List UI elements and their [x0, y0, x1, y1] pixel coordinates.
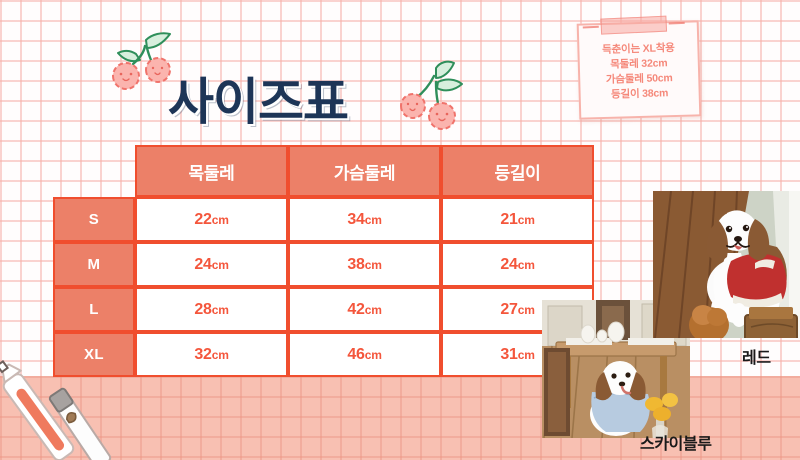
cell-value: 38: [347, 256, 364, 273]
photo-caption-skyblue: 스카이블루: [640, 430, 712, 454]
size-table: 목둘레 가슴둘레 등길이 S 22cm 34cm 21cm M 24cm 38c…: [53, 145, 594, 377]
memo-line: 등길이 38cm: [580, 85, 698, 103]
memo-note-text: 득춘이는 XL착용 목둘레 32cm 가슴둘레 50cm 등길이 38cm: [579, 40, 699, 103]
table-row: M 24cm 38cm 24cm: [53, 242, 594, 287]
cell-unit: cm: [365, 348, 382, 362]
cell-neck: 24cm: [135, 242, 288, 287]
photo-caption-red: 레드: [742, 344, 771, 368]
cell-value: 24: [500, 256, 517, 273]
cell-unit: cm: [518, 348, 535, 362]
table-corner-cell: [53, 145, 135, 197]
cell-unit: cm: [212, 213, 229, 227]
cell-unit: cm: [365, 213, 382, 227]
memo-note: 득춘이는 XL착용 목둘레 32cm 가슴둘레 50cm 등길이 38cm: [577, 20, 702, 119]
cell-value: 22: [194, 211, 211, 228]
cell-value: 24: [194, 256, 211, 273]
cell-value: 27: [500, 301, 517, 318]
cell-neck: 28cm: [135, 287, 288, 332]
photo-red: [653, 191, 800, 338]
cell-value: 42: [347, 301, 364, 318]
cell-back: 24cm: [441, 242, 594, 287]
cell-unit: cm: [212, 258, 229, 272]
cell-neck: 32cm: [135, 332, 288, 377]
cell-value: 31: [500, 346, 517, 363]
cell-unit: cm: [518, 213, 535, 227]
cell-value: 34: [347, 211, 364, 228]
table-header-row: 목둘레 가슴둘레 등길이: [53, 145, 594, 197]
cell-back: 21cm: [441, 197, 594, 242]
row-header-size: S: [53, 197, 135, 242]
cell-value: 21: [500, 211, 517, 228]
cell-unit: cm: [212, 303, 229, 317]
cell-unit: cm: [365, 258, 382, 272]
column-header-neck: 목둘레: [135, 145, 288, 197]
cell-unit: cm: [518, 303, 535, 317]
cell-value: 28: [194, 301, 211, 318]
page-title: 사이즈표: [168, 62, 348, 134]
column-header-back: 등길이: [441, 145, 594, 197]
cell-unit: cm: [518, 258, 535, 272]
cell-chest: 46cm: [288, 332, 441, 377]
table-row: L 28cm 42cm 27cm: [53, 287, 594, 332]
row-header-size: M: [53, 242, 135, 287]
cell-chest: 38cm: [288, 242, 441, 287]
cell-value: 46: [347, 346, 364, 363]
cell-chest: 42cm: [288, 287, 441, 332]
table-row: XL 32cm 46cm 31cm: [53, 332, 594, 377]
size-chart-canvas: 득춘이는 XL착용 목둘레 32cm 가슴둘레 50cm 등길이 38cm 사이…: [0, 0, 800, 460]
row-header-size: L: [53, 287, 135, 332]
column-header-chest: 가슴둘레: [288, 145, 441, 197]
row-header-size: XL: [53, 332, 135, 377]
cell-neck: 22cm: [135, 197, 288, 242]
berry-decoration-icon: [396, 58, 482, 143]
table-row: S 22cm 34cm 21cm: [53, 197, 594, 242]
cell-unit: cm: [212, 348, 229, 362]
cell-unit: cm: [365, 303, 382, 317]
cell-value: 32: [194, 346, 211, 363]
washi-tape-icon: [600, 16, 667, 35]
cell-chest: 34cm: [288, 197, 441, 242]
